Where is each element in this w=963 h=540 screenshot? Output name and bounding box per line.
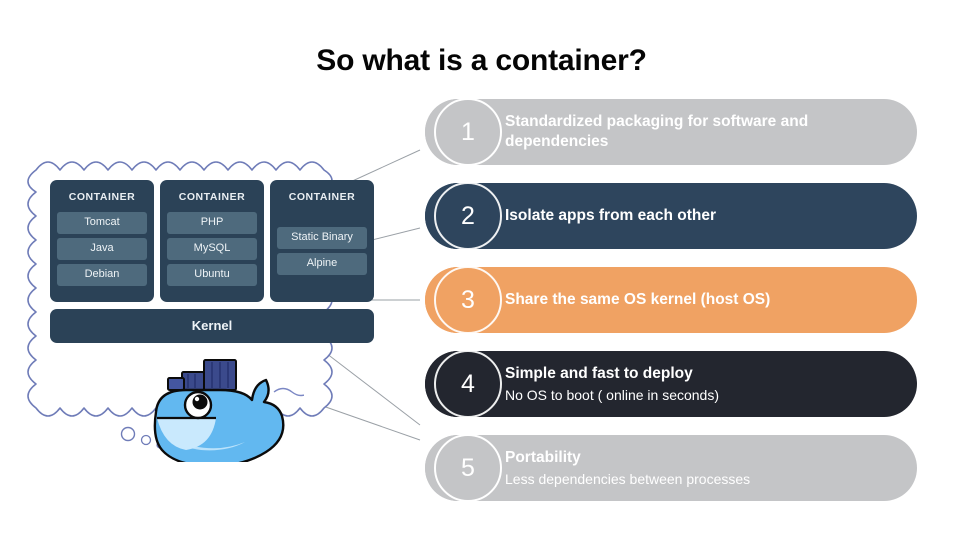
list-item-title-cont: dependencies bbox=[505, 132, 891, 152]
container-stack: CONTAINER Tomcat Java Debian CONTAINER P… bbox=[50, 180, 374, 343]
list-item[interactable]: 5 Portability Less dependencies between … bbox=[425, 435, 917, 501]
container-title: CONTAINER bbox=[167, 188, 257, 208]
list-item-title: Portability bbox=[505, 448, 891, 468]
slide-canvas: So what is a container? bbox=[0, 0, 963, 540]
docker-whale-logo bbox=[124, 352, 304, 462]
container-box: CONTAINER Static Binary Alpine bbox=[270, 180, 374, 302]
container-box: CONTAINER PHP MySQL Ubuntu bbox=[160, 180, 264, 302]
thought-cloud-diagram: CONTAINER Tomcat Java Debian CONTAINER P… bbox=[6, 140, 418, 480]
container-layer: Alpine bbox=[277, 253, 367, 275]
badge: 3 bbox=[425, 267, 493, 333]
list-item-body: Share the same OS kernel (host OS) bbox=[493, 290, 917, 310]
benefits-list: 1 Standardized packaging for software an… bbox=[425, 99, 917, 519]
list-item-title: Simple and fast to deploy bbox=[505, 364, 891, 384]
list-item-body: Portability Less dependencies between pr… bbox=[493, 448, 917, 488]
kernel-bar: Kernel bbox=[50, 309, 374, 343]
list-item-title: Isolate apps from each other bbox=[505, 206, 891, 226]
container-title: CONTAINER bbox=[57, 188, 147, 208]
badge: 5 bbox=[425, 435, 493, 501]
list-item-subtitle: No OS to boot ( online in seconds) bbox=[505, 386, 891, 404]
containers-row: CONTAINER Tomcat Java Debian CONTAINER P… bbox=[50, 180, 374, 302]
list-item[interactable]: 1 Standardized packaging for software an… bbox=[425, 99, 917, 165]
container-layer: Ubuntu bbox=[167, 264, 257, 286]
container-title: CONTAINER bbox=[277, 188, 367, 208]
badge-number: 3 bbox=[434, 266, 502, 334]
list-item-body: Isolate apps from each other bbox=[493, 206, 917, 226]
badge: 1 bbox=[425, 99, 493, 165]
container-box: CONTAINER Tomcat Java Debian bbox=[50, 180, 154, 302]
list-item[interactable]: 4 Simple and fast to deploy No OS to boo… bbox=[425, 351, 917, 417]
list-item-subtitle: Less dependencies between processes bbox=[505, 470, 891, 488]
container-layer: Debian bbox=[57, 264, 147, 286]
container-layer: Tomcat bbox=[57, 212, 147, 234]
badge: 2 bbox=[425, 183, 493, 249]
container-layer-empty bbox=[277, 212, 367, 223]
badge-number: 4 bbox=[434, 350, 502, 418]
container-layer: Java bbox=[57, 238, 147, 260]
container-layer: MySQL bbox=[167, 238, 257, 260]
badge-number: 2 bbox=[434, 182, 502, 250]
list-item-title: Standardized packaging for software and bbox=[505, 112, 891, 132]
list-item-body: Standardized packaging for software and … bbox=[493, 112, 917, 151]
list-item-title: Share the same OS kernel (host OS) bbox=[505, 290, 891, 310]
badge-number: 1 bbox=[434, 98, 502, 166]
badge: 4 bbox=[425, 351, 493, 417]
list-item-body: Simple and fast to deploy No OS to boot … bbox=[493, 364, 917, 404]
badge-number: 5 bbox=[434, 434, 502, 502]
container-layer: Static Binary bbox=[277, 227, 367, 249]
list-item[interactable]: 3 Share the same OS kernel (host OS) bbox=[425, 267, 917, 333]
list-item[interactable]: 2 Isolate apps from each other bbox=[425, 183, 917, 249]
page-title: So what is a container? bbox=[0, 44, 963, 78]
container-layer: PHP bbox=[167, 212, 257, 234]
